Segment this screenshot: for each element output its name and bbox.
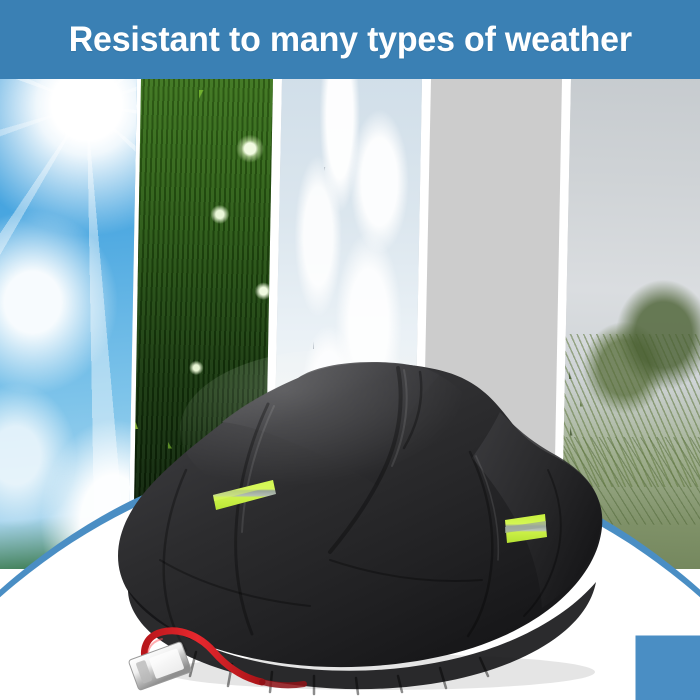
header-banner: Resistant to many types of weather: [0, 0, 700, 79]
page-title: Resistant to many types of weather: [68, 20, 631, 60]
cover-highlight: [180, 350, 480, 510]
product-feature-image: Resistant to many types of weather Brigh…: [0, 0, 700, 700]
lock-buckle: [128, 641, 192, 690]
product-motorcycle-cover: [0, 0, 700, 700]
drawstring-tail: [262, 682, 304, 685]
